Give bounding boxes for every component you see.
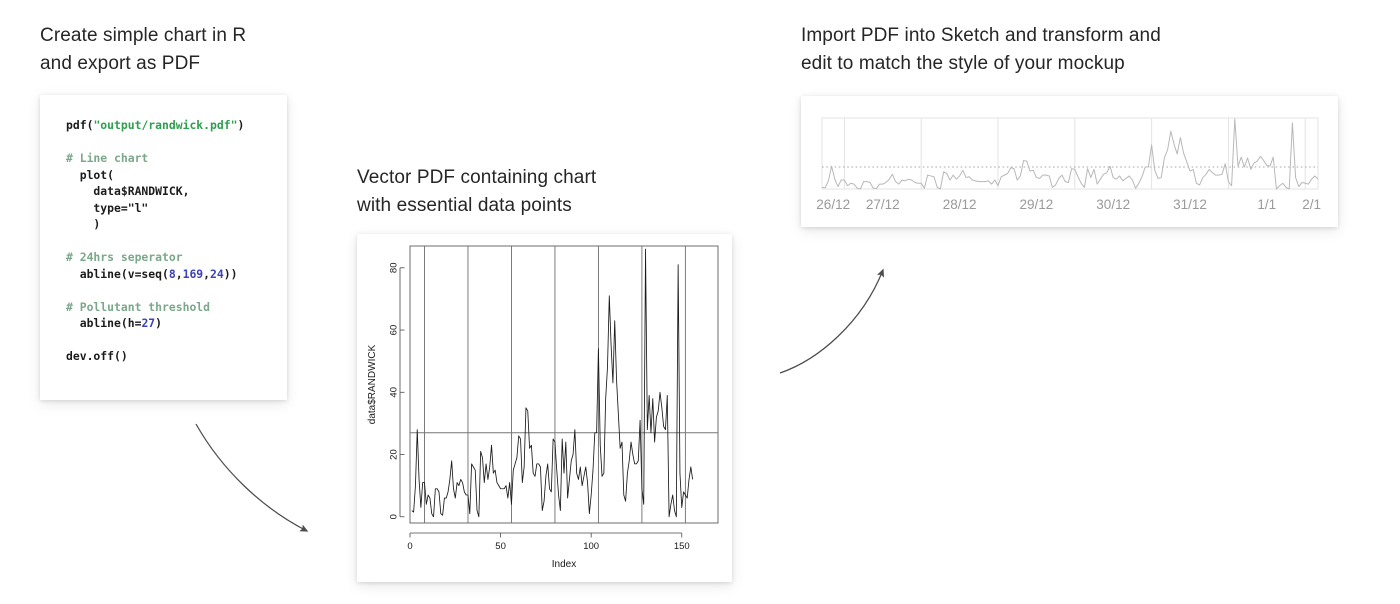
code-token-comment: # Pollutant threshold — [66, 300, 210, 314]
y-tick-label: 20 — [389, 449, 400, 460]
code-token-plain: pdf( — [66, 118, 93, 132]
code-token-plain: plot( — [66, 168, 114, 182]
sketch-x-tick-label: 27/12 — [866, 197, 900, 212]
x-tick-label: 0 — [407, 541, 412, 552]
sketch-x-tick-label: 29/12 — [1020, 197, 1054, 212]
sketch-x-tick-label: 2/1 — [1302, 197, 1321, 212]
caption-vector-pdf: Vector PDF containing chart with essenti… — [357, 164, 677, 219]
code-token-num: 169 — [183, 267, 204, 281]
y-tick-label: 40 — [389, 387, 400, 398]
code-token-string: "output/randwick.pdf" — [93, 118, 237, 132]
r-chart-svg: 050100150020406080Indexdata$RANDWICK — [357, 234, 732, 582]
y-tick-label: 60 — [389, 325, 400, 336]
x-tick-label: 150 — [674, 541, 690, 552]
code-token-plain: ) — [237, 118, 244, 132]
caption-import-into-sketch: Import PDF into Sketch and transform and… — [801, 22, 1271, 77]
sketch-x-tick-label: 28/12 — [943, 197, 977, 212]
sketch-x-tick-label: 31/12 — [1173, 197, 1207, 212]
code-token-plain: data$RANDWICK, — [66, 184, 189, 198]
arrow-code-to-pdf-icon — [196, 424, 307, 531]
code-token-num: 8 — [169, 267, 176, 281]
code-token-plain: dev.off() — [66, 349, 128, 363]
caption-create-chart-in-r: Create simple chart in R and export as P… — [40, 22, 340, 77]
x-tick-label: 50 — [495, 541, 506, 552]
sketch-x-tick-label: 1/1 — [1257, 197, 1276, 212]
sketch-x-tick-label: 30/12 — [1096, 197, 1130, 212]
y-tick-label: 0 — [389, 514, 400, 519]
sketch-chart-card: 26/1227/1228/1229/1230/1231/121/12/1 — [801, 96, 1338, 227]
code-token-plain: , — [203, 267, 210, 281]
code-token-comment: # Line chart — [66, 151, 148, 165]
code-token-plain: type="l" — [66, 201, 148, 215]
y-axis-title: data$RANDWICK — [367, 344, 378, 424]
code-token-plain: )) — [224, 267, 238, 281]
code-token-plain: abline(h= — [66, 316, 141, 330]
x-tick-label: 100 — [583, 541, 599, 552]
sketch-plot-frame — [822, 118, 1318, 189]
y-tick-label: 80 — [389, 262, 400, 273]
x-axis-title: Index — [552, 559, 576, 570]
code-token-comment: # 24hrs seperator — [66, 250, 183, 264]
code-token-plain: ) — [155, 316, 162, 330]
r-chart-card: 050100150020406080Indexdata$RANDWICK — [357, 234, 732, 582]
r-code-block: pdf("output/randwick.pdf") # Line chart … — [66, 117, 271, 365]
plot-frame — [410, 246, 718, 523]
r-plot-group: 050100150020406080Indexdata$RANDWICK — [367, 246, 718, 570]
code-token-plain: abline(v=seq( — [66, 267, 169, 281]
sketch-chart-svg: 26/1227/1228/1229/1230/1231/121/12/1 — [801, 96, 1338, 227]
sketch-plot-group: 26/1227/1228/1229/1230/1231/121/12/1 — [816, 118, 1321, 212]
sketch-data-series-line — [822, 119, 1318, 189]
arrow-pdf-to-sketch-icon — [780, 270, 883, 373]
code-token-num: 24 — [210, 267, 224, 281]
data-series-line — [412, 249, 693, 517]
sketch-x-tick-label: 26/12 — [816, 197, 850, 212]
code-token-plain: ) — [66, 217, 100, 231]
code-token-plain: , — [176, 267, 183, 281]
code-token-num: 27 — [141, 316, 155, 330]
r-code-card: pdf("output/randwick.pdf") # Line chart … — [40, 95, 287, 400]
